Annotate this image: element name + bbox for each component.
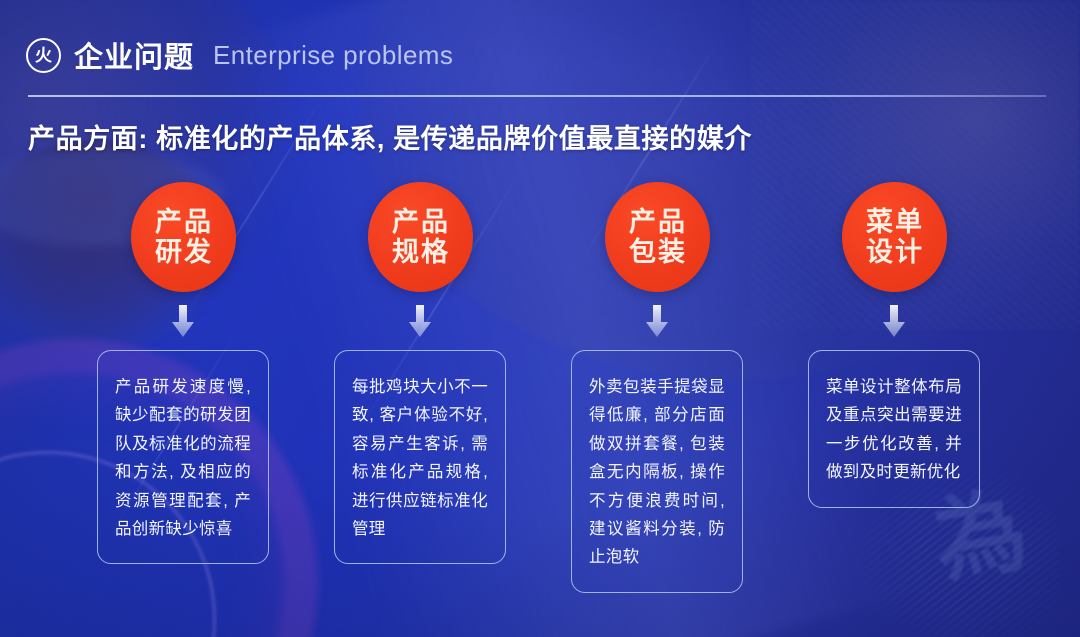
fire-icon: 火 [26, 38, 61, 73]
badge-label-line1: 产品 [390, 207, 450, 238]
slide-canvas: 為 火 企业问题 Enterprise problems 产品方面: 标准化的产… [0, 0, 1080, 637]
arrow-down-icon [406, 305, 434, 339]
column-product-rd: 产品 研发 产品研发速度慢, 缺少配套的研发团队及标准化的流程和方法, 及相应的… [97, 182, 269, 622]
badge-circle-product-packaging[interactable]: 产品 包装 [605, 182, 710, 292]
badge-circle-menu-design[interactable]: 菜单 设计 [842, 182, 947, 292]
badge-label-line2: 规格 [390, 237, 450, 268]
badge-label-line2: 包装 [627, 237, 687, 268]
columns-container: 产品 研发 产品研发速度慢, 缺少配套的研发团队及标准化的流程和方法, 及相应的… [0, 182, 1080, 622]
info-card-product-rd: 产品研发速度慢, 缺少配套的研发团队及标准化的流程和方法, 及相应的资源管理配套… [97, 350, 269, 564]
arrow-down-icon [880, 305, 908, 339]
badge-label-line1: 菜单 [864, 207, 924, 238]
info-card-text: 产品研发速度慢, 缺少配套的研发团队及标准化的流程和方法, 及相应的资源管理配套… [115, 373, 251, 543]
column-product-spec: 产品 规格 每批鸡块大小不一致, 客户体验不好, 容易产生客诉, 需标准化产品规… [334, 182, 506, 622]
slide-header: 火 企业问题 Enterprise problems [26, 34, 453, 76]
info-card-text: 菜单设计整体布局及重点突出需要进一步优化改善, 并做到及时更新优化 [826, 373, 962, 487]
badge-circle-product-spec[interactable]: 产品 规格 [368, 182, 473, 292]
fire-icon-glyph: 火 [35, 47, 52, 64]
info-card-product-packaging: 外卖包装手提袋显得低廉, 部分店面做双拼套餐, 包装盒无内隔板, 操作不方便浪费… [571, 350, 743, 593]
page-title-cn: 企业问题 [74, 34, 194, 76]
info-card-menu-design: 菜单设计整体布局及重点突出需要进一步优化改善, 并做到及时更新优化 [808, 350, 980, 508]
badge-circle-product-rd[interactable]: 产品 研发 [131, 182, 236, 292]
arrow-down-icon [169, 305, 197, 339]
badge-label-line1: 产品 [627, 207, 687, 238]
section-subtitle: 产品方面: 标准化的产品体系, 是传递品牌价值最直接的媒介 [28, 117, 752, 156]
info-card-text: 外卖包装手提袋显得低廉, 部分店面做双拼套餐, 包装盒无内隔板, 操作不方便浪费… [589, 373, 725, 572]
info-card-product-spec: 每批鸡块大小不一致, 客户体验不好, 容易产生客诉, 需标准化产品规格, 进行供… [334, 350, 506, 564]
header-divider [28, 95, 1046, 97]
page-title-en: Enterprise problems [213, 40, 453, 71]
column-menu-design: 菜单 设计 菜单设计整体布局及重点突出需要进一步优化改善, 并做到及时更新优化 [808, 182, 980, 622]
arrow-down-icon [643, 305, 671, 339]
badge-label-line2: 研发 [153, 237, 213, 268]
badge-label-line1: 产品 [153, 207, 213, 238]
badge-label-line2: 设计 [864, 237, 924, 268]
info-card-text: 每批鸡块大小不一致, 客户体验不好, 容易产生客诉, 需标准化产品规格, 进行供… [352, 373, 488, 543]
column-product-packaging: 产品 包装 外卖包装手提袋显得低廉, 部分店面做双拼套餐, 包装盒无内隔板, 操… [571, 182, 743, 622]
